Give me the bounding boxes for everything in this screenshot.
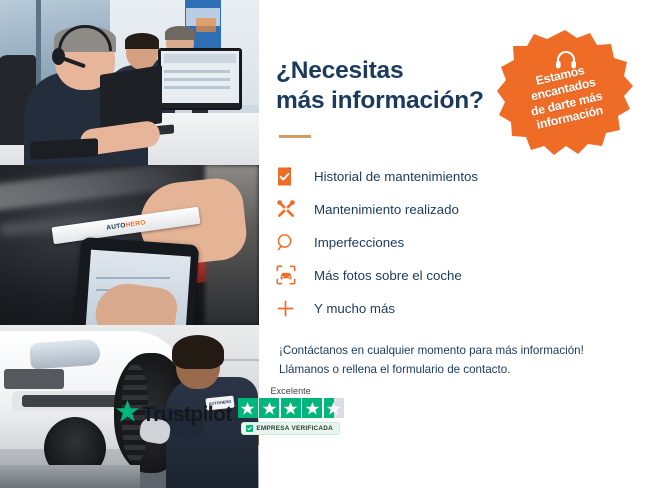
- car-inspection-ruler-photo: AUTOHERO: [0, 165, 259, 325]
- trustpilot-logo[interactable]: Trustpilot: [115, 400, 232, 429]
- check-square-icon: [246, 425, 253, 432]
- feature-item-mucho-mas: Y mucho más: [276, 292, 650, 325]
- feature-label: Y mucho más: [314, 301, 395, 316]
- title-underline-rule: [279, 135, 311, 138]
- magnifier-icon: [276, 230, 306, 254]
- car-headlight: [29, 339, 101, 370]
- page-title-line-2: más información?: [276, 87, 484, 114]
- trustpilot-block[interactable]: Trustpilot Excelente: [115, 386, 344, 435]
- verified-badge-label: EMPRESA VERIFICADA: [256, 425, 333, 432]
- trustpilot-rating: Excelente: [238, 386, 344, 435]
- promo-banner: AUTOHERO: [0, 0, 650, 488]
- tools-wrench-screwdriver-icon: [276, 197, 306, 221]
- feature-item-historial: Historial de mantenimientos: [276, 160, 650, 193]
- star-filled: [259, 398, 279, 418]
- desk-tablet: [30, 138, 98, 160]
- clipboard-check-icon: [276, 164, 306, 188]
- rating-label: Excelente: [270, 386, 310, 396]
- contact-text: ¡Contáctanos en cualquier momento para m…: [279, 342, 650, 380]
- star-filled: [238, 398, 258, 418]
- trustpilot-brand-name: Trustpilot: [142, 403, 232, 427]
- wall-poster-accent: [196, 18, 216, 32]
- starburst-badge: Estamos encantados de darte más informac…: [497, 28, 633, 160]
- verified-company-badge: EMPRESA VERIFICADA: [241, 422, 340, 435]
- monitor-screen-toolbar: [164, 54, 236, 63]
- monitor-screen-row: [164, 78, 230, 81]
- page-title-line-1: ¿Necesitas: [276, 57, 403, 84]
- feature-label: Imperfecciones: [314, 235, 404, 250]
- car-grille: [4, 369, 64, 389]
- agent-three-hair: [165, 26, 195, 40]
- feature-label: Mantenimiento realizado: [314, 202, 459, 217]
- feature-item-imperfecciones: Imperfecciones: [276, 226, 650, 259]
- monitor-screen-row: [164, 86, 230, 89]
- ruler-brand-text: AUTOHERO: [106, 219, 146, 231]
- star-half: [324, 398, 344, 418]
- star-rating: [238, 398, 344, 418]
- contact-line-2: Llámanos o rellena el formulario de cont…: [279, 363, 510, 376]
- star-filled: [281, 398, 301, 418]
- contact-line-1: ¡Contáctanos en cualquier momento para m…: [279, 344, 584, 357]
- feature-label: Más fotos sobre el coche: [314, 268, 462, 283]
- call-center-agents-photo: [0, 0, 259, 165]
- tablet-screen-line: [96, 277, 170, 279]
- feature-label: Historial de mantenimientos: [314, 169, 478, 184]
- trustpilot-star-icon: [115, 400, 140, 429]
- star-filled: [302, 398, 322, 418]
- car-viewfinder-icon: [276, 263, 306, 287]
- car-lift-platform: [0, 465, 140, 488]
- mechanic-hair: [172, 335, 224, 369]
- feature-list: Historial de mantenimientos Mantenimient…: [276, 160, 650, 325]
- agent-two-hair: [125, 33, 159, 49]
- monitor-screen-row: [164, 70, 230, 73]
- feature-item-mantenimiento: Mantenimiento realizado: [276, 193, 650, 226]
- feature-item-fotos: Más fotos sobre el coche: [276, 259, 650, 292]
- plus-icon: [276, 296, 306, 320]
